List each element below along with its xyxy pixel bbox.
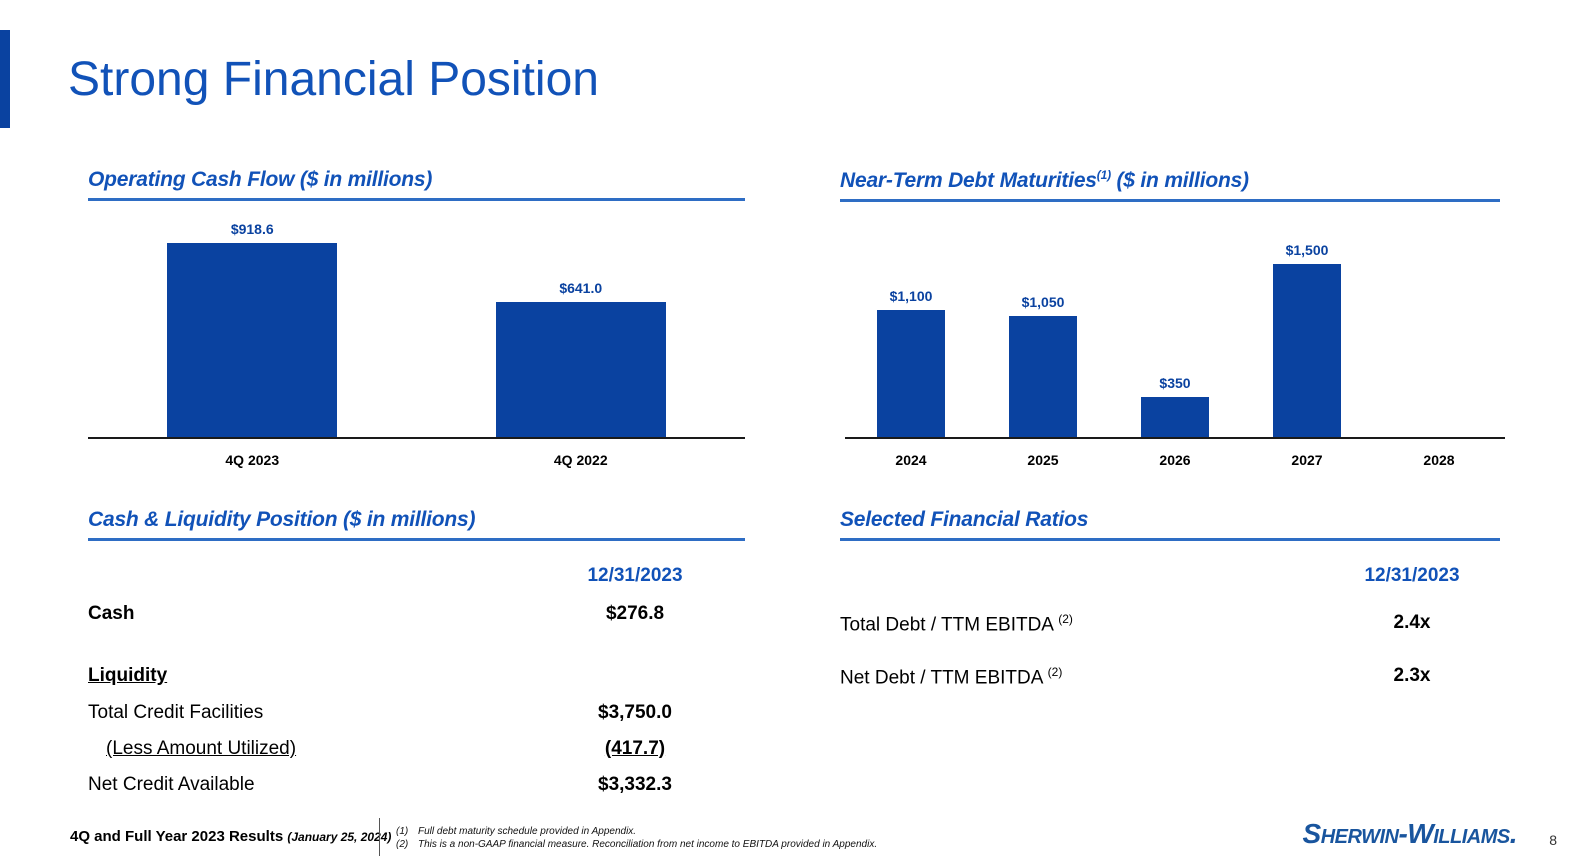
bar-value-label: $641.0 (417, 280, 746, 296)
slide-canvas: Strong Financial Position Operating Cash… (0, 0, 1579, 860)
footnote-number: (1) (396, 825, 418, 838)
table-financial-ratios: 12/31/2023 Total Debt / TTM EBITDA (2)2.… (840, 565, 1500, 705)
section-header-debt-maturities-tail: ($ in millions) (1111, 169, 1249, 192)
row-value: $276.8 (485, 603, 785, 625)
category-label: 4Q 2023 (88, 452, 417, 468)
row-label: Total Debt / TTM EBITDA (2) (840, 612, 1073, 636)
section-rule-cash-liquidity (88, 538, 745, 541)
category-label: 2025 (977, 452, 1109, 468)
table-row: Cash$276.8 (88, 603, 745, 633)
bar-2025 (1009, 316, 1077, 437)
page-title: Strong Financial Position (68, 52, 599, 107)
bar-4q-2022 (496, 302, 666, 437)
bar-value-label: $918.6 (88, 221, 417, 237)
category-label: 4Q 2022 (417, 452, 746, 468)
category-label: 2027 (1241, 452, 1373, 468)
footer-date: (January 25, 2024) (287, 830, 391, 844)
section-rule-debt-maturities (840, 199, 1500, 202)
category-label: 2028 (1373, 452, 1505, 468)
bar-value-label: $350 (1109, 375, 1241, 391)
row-value: 2.3x (1262, 665, 1562, 687)
row-label: Net Debt / TTM EBITDA (2) (840, 665, 1062, 689)
section-financial-ratios: Selected Financial Ratios (840, 508, 1500, 541)
section-rule-operating-cash-flow (88, 198, 745, 201)
bar-2027 (1273, 264, 1341, 437)
row-label: Total Credit Facilities (88, 702, 263, 724)
row-label: (Less Amount Utilized) (106, 738, 296, 760)
x-axis-line (845, 437, 1505, 439)
section-header-debt-maturities: Near-Term Debt Maturities(1) ($ in milli… (840, 168, 1500, 193)
footnotes-list: (1)Full debt maturity schedule provided … (396, 825, 877, 851)
section-operating-cash-flow: Operating Cash Flow ($ in millions) (88, 168, 745, 201)
bar-value-label: $1,050 (977, 294, 1109, 310)
footnote-text: Full debt maturity schedule provided in … (418, 826, 636, 837)
row-label: Liquidity (88, 665, 167, 687)
bar-2026 (1141, 397, 1209, 437)
table-row: Total Debt / TTM EBITDA (2)2.4x (840, 612, 1500, 642)
footer-title-text: 4Q and Full Year 2023 Results (70, 828, 283, 845)
section-header-debt-maturities-main: Near-Term Debt Maturities (840, 169, 1097, 192)
row-label: Net Credit Available (88, 774, 255, 796)
category-label: 2024 (845, 452, 977, 468)
footer-divider (379, 818, 380, 856)
footnote-marker-1: (1) (1097, 168, 1111, 182)
row-value: $3,750.0 (485, 702, 785, 724)
row-value: $3,332.3 (485, 774, 785, 796)
footnote-marker-2: (2) (1048, 665, 1063, 679)
chart-plot-debt-maturities: $1,100$1,050$350$1,500 (845, 255, 1505, 439)
footnote-marker-2: (2) (1058, 612, 1073, 626)
footnote-item: (2)This is a non-GAAP financial measure.… (396, 838, 877, 851)
footer-title: 4Q and Full Year 2023 Results (January 2… (70, 828, 391, 845)
section-header-operating-cash-flow: Operating Cash Flow ($ in millions) (88, 168, 745, 192)
section-cash-liquidity: Cash & Liquidity Position ($ in millions… (88, 508, 745, 541)
x-axis-line (88, 437, 745, 439)
bar-value-label: $1,500 (1241, 242, 1373, 258)
title-accent-bar (0, 30, 10, 128)
chart-operating-cash-flow: $918.6$641.0 4Q 20234Q 2022 (88, 228, 745, 473)
chart-debt-maturities: $1,100$1,050$350$1,500 20242025202620272… (845, 255, 1505, 473)
footnote-text: This is a non-GAAP financial measure. Re… (418, 839, 877, 850)
row-label: Cash (88, 603, 134, 625)
table-column-header-date: 12/31/2023 (485, 565, 785, 587)
table-row: Total Credit Facilities$3,750.0 (88, 702, 745, 732)
row-value: (417.7) (485, 738, 785, 760)
row-value: 2.4x (1262, 612, 1562, 634)
table-row: (Less Amount Utilized)(417.7) (88, 738, 745, 768)
category-label: 2026 (1109, 452, 1241, 468)
bar-value-label: $1,100 (845, 288, 977, 304)
table-row: Net Credit Available$3,332.3 (88, 774, 745, 804)
section-debt-maturities: Near-Term Debt Maturities(1) ($ in milli… (840, 168, 1500, 202)
chart-plot-operating-cash-flow: $918.6$641.0 (88, 228, 745, 439)
section-header-cash-liquidity: Cash & Liquidity Position ($ in millions… (88, 508, 745, 532)
footnote-item: (1)Full debt maturity schedule provided … (396, 825, 877, 838)
table-column-header-date: 12/31/2023 (1262, 565, 1562, 587)
section-rule-financial-ratios (840, 538, 1500, 541)
table-row: Net Debt / TTM EBITDA (2)2.3x (840, 665, 1500, 695)
footnote-number: (2) (396, 838, 418, 851)
section-header-financial-ratios: Selected Financial Ratios (840, 508, 1500, 532)
table-row: Liquidity (88, 665, 745, 695)
bar-4q-2023 (167, 243, 337, 437)
bar-2024 (877, 310, 945, 437)
sherwin-williams-logo: Sherwin-Williams. (1303, 818, 1517, 850)
page-number: 8 (1549, 832, 1557, 848)
table-cash-liquidity: 12/31/2023 Cash$276.8LiquidityTotal Cred… (88, 565, 745, 805)
